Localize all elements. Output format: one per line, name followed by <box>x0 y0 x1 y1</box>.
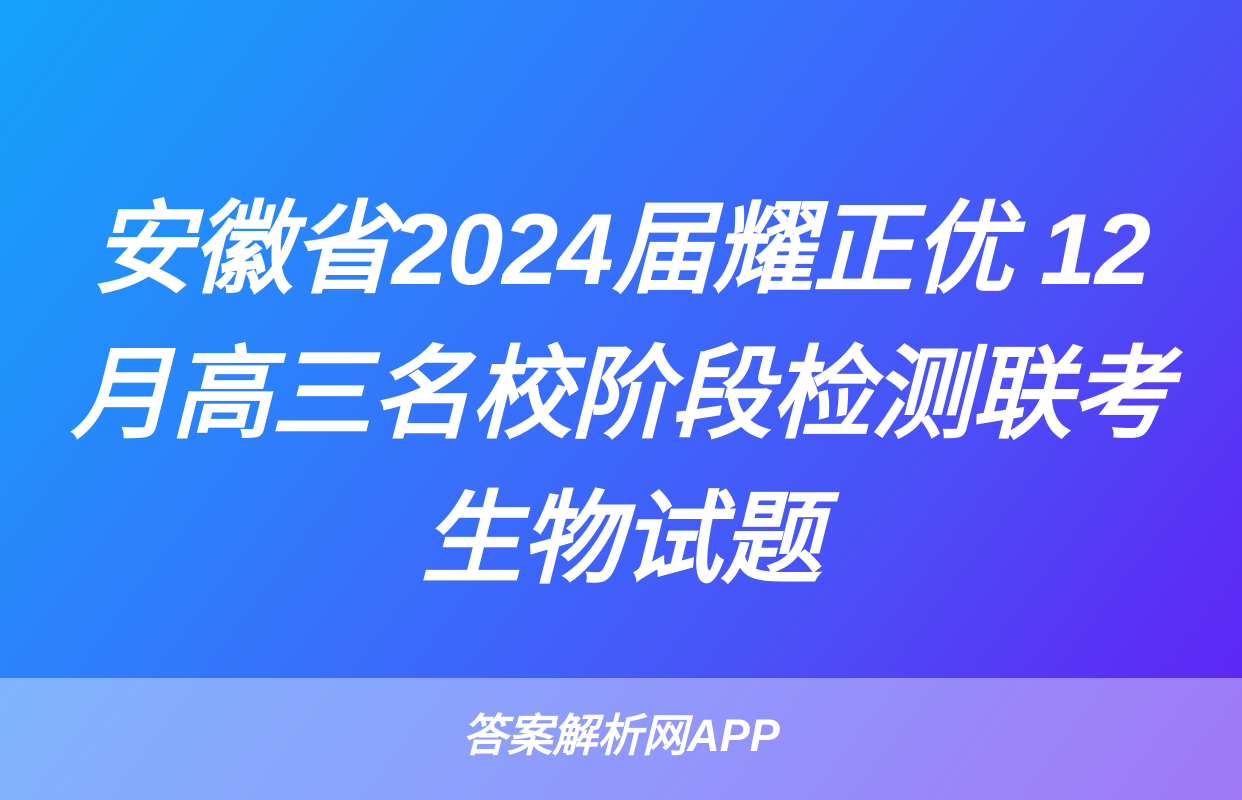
exam-title-line-2: 月高三名校阶段检测联考 <box>70 323 1172 468</box>
exam-title-line-3: 生物试题 <box>70 468 1172 613</box>
exam-cover-banner: 安徽省2024届耀正优 12 月高三名校阶段检测联考 生物试题 答案解析网APP <box>0 0 1242 800</box>
exam-title: 安徽省2024届耀正优 12 月高三名校阶段检测联考 生物试题 <box>0 178 1242 613</box>
footer-watermark: 答案解析网APP <box>0 700 1242 770</box>
exam-title-line-1: 安徽省2024届耀正优 12 <box>70 178 1172 323</box>
footer-watermark-label: 答案解析网APP <box>462 713 780 758</box>
